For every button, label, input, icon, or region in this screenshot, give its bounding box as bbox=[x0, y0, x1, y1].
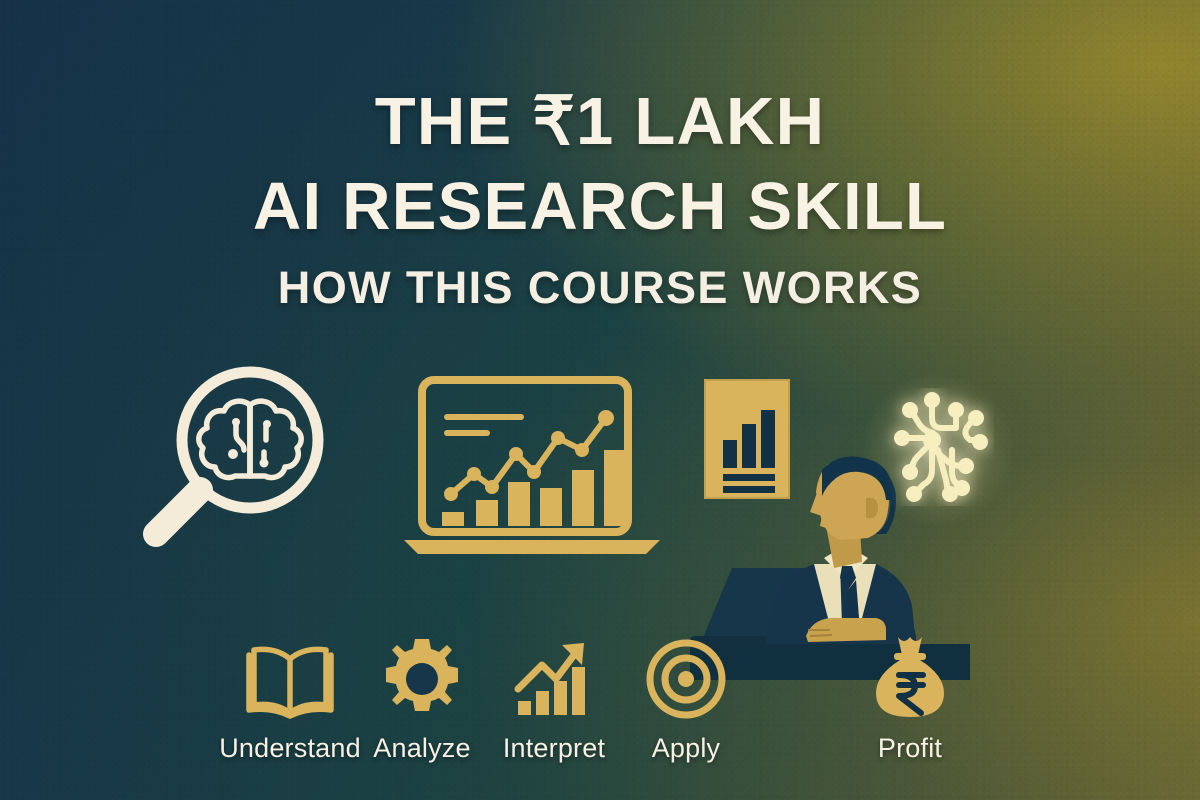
headline-block: THE ₹1 LAKH AI RESEARCH SKILL HOW THIS C… bbox=[0, 86, 1200, 311]
step-label-analyze: Analyze bbox=[373, 733, 470, 764]
report-document-icon bbox=[703, 378, 791, 505]
step-profit[interactable]: Profit bbox=[844, 629, 976, 764]
neural-network-icon bbox=[876, 388, 994, 511]
open-book-icon bbox=[246, 629, 334, 721]
laptop-chart-icon bbox=[396, 372, 668, 569]
step-label-interpret: Interpret bbox=[503, 733, 605, 764]
process-steps-row: Understand Analyze bbox=[0, 629, 1200, 764]
step-apply[interactable]: Apply bbox=[620, 629, 752, 764]
page-title-line-1: THE ₹1 LAKH bbox=[0, 86, 1200, 157]
magnifier-brain-icon bbox=[128, 358, 338, 573]
step-label-apply: Apply bbox=[652, 733, 721, 764]
page-subtitle: HOW THIS COURSE WORKS bbox=[0, 264, 1200, 311]
gear-icon bbox=[380, 629, 464, 721]
money-bag-rupee-icon bbox=[868, 629, 952, 721]
step-analyze[interactable]: Analyze bbox=[356, 629, 488, 764]
step-interpret[interactable]: Interpret bbox=[488, 629, 620, 764]
course-poster: THE ₹1 LAKH AI RESEARCH SKILL HOW THIS C… bbox=[0, 0, 1200, 800]
page-title-line-2: AI RESEARCH SKILL bbox=[0, 171, 1200, 242]
step-label-profit: Profit bbox=[878, 733, 942, 764]
step-label-understand: Understand bbox=[219, 733, 361, 764]
step-understand[interactable]: Understand bbox=[224, 629, 356, 764]
target-bullseye-icon bbox=[644, 629, 728, 721]
growth-chart-arrow-icon bbox=[512, 629, 596, 721]
